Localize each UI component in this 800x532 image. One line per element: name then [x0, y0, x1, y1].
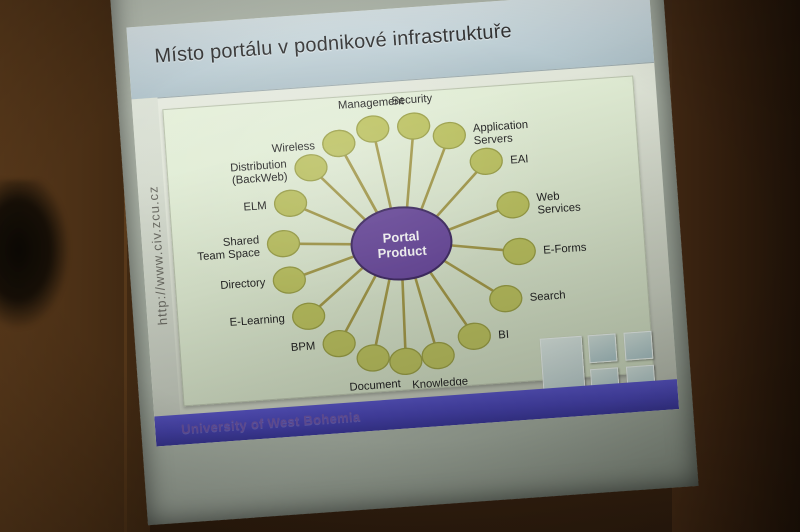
- potted-plant-silhouette: [0, 180, 90, 380]
- spoke-label: Wireless: [271, 140, 315, 155]
- spoke-node: [272, 266, 306, 294]
- spoke-label: Distribution(BackWeb): [230, 158, 288, 186]
- spoke-node: [292, 302, 326, 330]
- spoke-node: [274, 189, 308, 217]
- spoke-label: SharedTeam Space: [196, 234, 260, 263]
- spoke-node: [322, 330, 356, 358]
- slide-footer-text: University of West Bohemia: [181, 409, 361, 437]
- decor-square-2: [623, 331, 653, 361]
- decor-square-1: [588, 333, 618, 363]
- spoke-node: [457, 322, 491, 350]
- spoke-node: [469, 147, 503, 175]
- spoke-label: BI: [498, 329, 510, 342]
- spoke-node: [356, 344, 390, 372]
- spoke-node: [356, 115, 390, 143]
- spoke-label: Security: [391, 93, 433, 108]
- spoke-label: E-Forms: [543, 242, 587, 257]
- spoke-node: [496, 191, 530, 219]
- spoke-label: WebServices: [536, 189, 581, 217]
- slide-title: Místo portálu v podnikové infrastruktuře: [154, 20, 513, 69]
- spoke-node: [421, 341, 455, 369]
- spoke-node: [502, 237, 536, 265]
- spoke-node: [267, 230, 301, 258]
- spoke-label: Search: [529, 289, 566, 304]
- spoke-label: Directory: [220, 277, 266, 292]
- projection-screen: Místo portálu v podnikové infrastruktuře…: [108, 0, 699, 525]
- spoke-label: ApplicationServers: [472, 119, 529, 147]
- spoke-label: E-Learning: [229, 313, 285, 329]
- spoke-node: [432, 121, 466, 149]
- spoke-node: [489, 285, 523, 313]
- spoke-label: EAI: [510, 153, 529, 166]
- spoke-node: [397, 112, 431, 140]
- spoke-node: [322, 129, 356, 157]
- spoke-label: BPM: [290, 340, 315, 354]
- presentation-slide: Místo portálu v podnikové infrastruktuře…: [126, 0, 679, 446]
- spoke-node: [389, 347, 423, 375]
- projection-screen-assembly: Místo portálu v podnikové infrastruktuře…: [108, 0, 699, 525]
- photo-of-projected-slide: Místo portálu v podnikové infrastruktuře…: [0, 0, 800, 532]
- spoke-label: ELM: [243, 200, 267, 214]
